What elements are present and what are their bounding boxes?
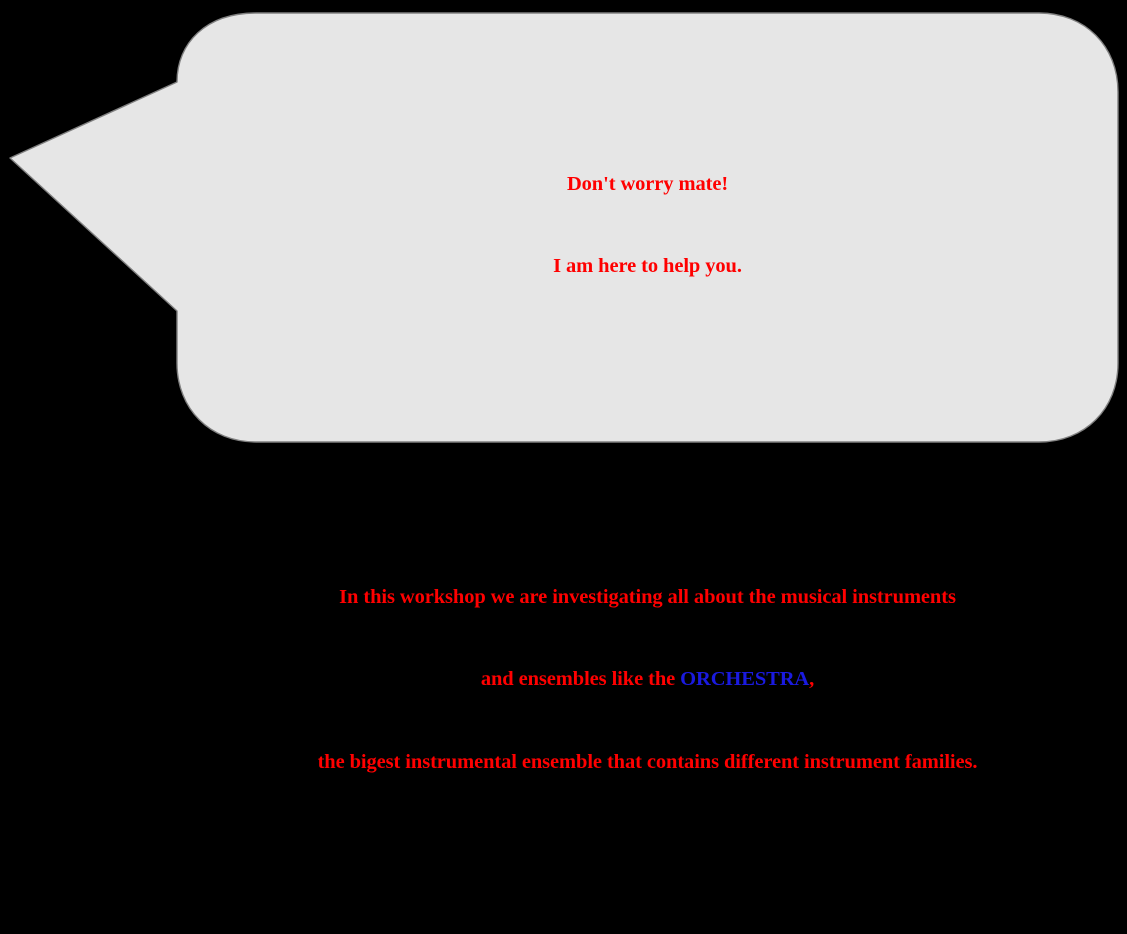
- spacer-1: [202, 418, 1093, 446]
- workshop-line-3: the bigest instrumental ensemble that co…: [202, 749, 1093, 777]
- workshop-line-2-prefix: and ensembles like the: [481, 668, 680, 690]
- workshop-line-2: and ensembles like the ORCHESTRA,: [202, 666, 1093, 694]
- workshop-line-1: In this workshop we are investigating al…: [202, 584, 1093, 612]
- canvas: Don't worry mate! I am here to help you.…: [0, 0, 1127, 467]
- paragraph-greeting: Don't worry mate! I am here to help you.: [202, 116, 1093, 336]
- spacer-2: [202, 914, 1093, 934]
- greeting-line-1: Don't worry mate!: [202, 171, 1093, 199]
- workshop-line-2-suffix: ,: [809, 668, 814, 690]
- orchestra-highlight: ORCHESTRA: [680, 668, 809, 690]
- greeting-line-2: I am here to help you.: [202, 253, 1093, 281]
- speech-bubble-text: Don't worry mate! I am here to help you.…: [176, 13, 1119, 442]
- paragraph-workshop-intro: In this workshop we are investigating al…: [202, 529, 1093, 832]
